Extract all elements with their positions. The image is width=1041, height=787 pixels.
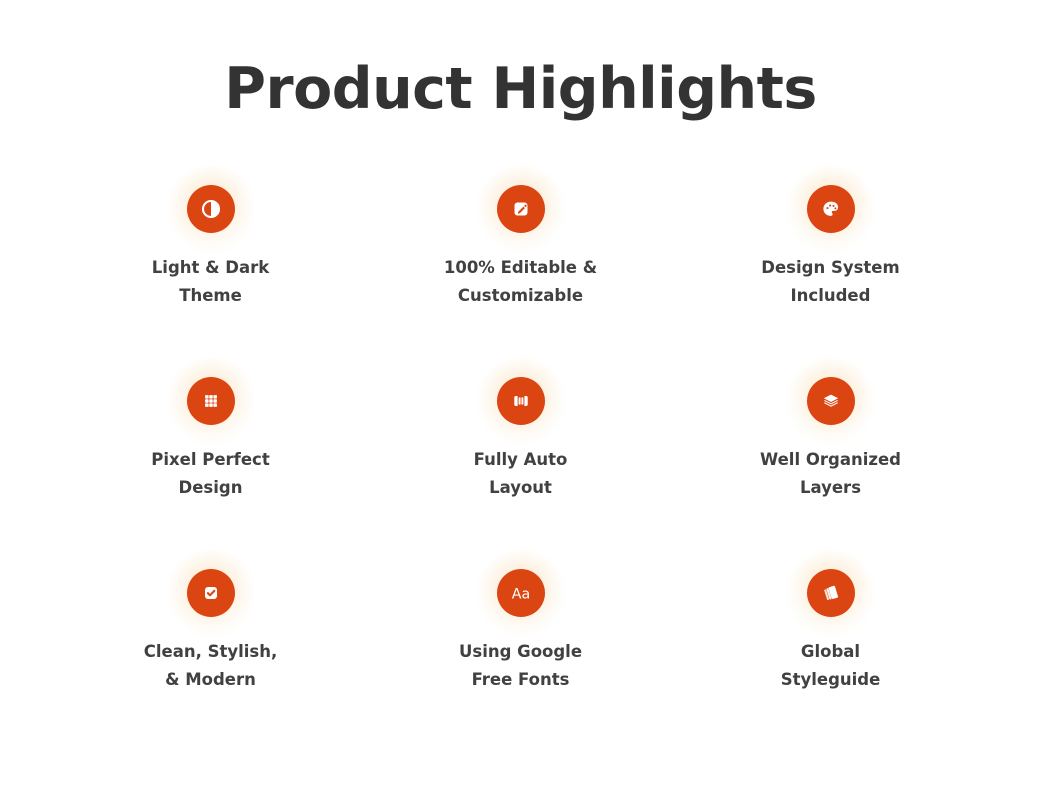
feature-item: Pixel Perfect Design (66, 377, 356, 569)
feature-item: Well Organized Layers (686, 377, 976, 569)
product-highlights-page: Product Highlights Light & Dark Theme (0, 0, 1041, 787)
icon-circle (807, 569, 855, 617)
feature-label: Global Styleguide (781, 638, 881, 695)
stacked-layers-icon (819, 389, 843, 413)
feature-icon-wrap (187, 377, 235, 425)
feature-icon-wrap (807, 185, 855, 233)
grid-nine-squares-icon (199, 389, 223, 413)
icon-circle (187, 569, 235, 617)
icon-circle (187, 377, 235, 425)
feature-label: 100% Editable & Customizable (444, 254, 597, 311)
feature-icon-wrap (187, 569, 235, 617)
feature-item: Light & Dark Theme (66, 185, 356, 377)
svg-text:Aa: Aa (511, 586, 529, 602)
feature-icon-wrap (807, 377, 855, 425)
feature-label: Light & Dark Theme (152, 254, 269, 311)
icon-circle (187, 185, 235, 233)
feature-item: Design System Included (686, 185, 976, 377)
icon-circle (807, 185, 855, 233)
feature-label: Well Organized Layers (760, 446, 901, 503)
stacked-cards-swatch-icon (819, 581, 843, 605)
feature-icon-wrap (497, 377, 545, 425)
feature-label: Design System Included (761, 254, 899, 311)
contrast-half-circle-icon (199, 197, 223, 221)
icon-circle (497, 377, 545, 425)
feature-item: Aa Using Google Free Fonts (376, 569, 666, 761)
icon-circle (807, 377, 855, 425)
feature-icon-wrap: Aa (497, 569, 545, 617)
feature-label: Fully Auto Layout (474, 446, 568, 503)
icon-circle (497, 185, 545, 233)
feature-grid: Light & Dark Theme 100% Editable & Custo… (56, 121, 986, 761)
page-title: Product Highlights (0, 0, 1041, 121)
feature-label: Using Google Free Fonts (459, 638, 582, 695)
pencil-edit-document-icon (509, 197, 533, 221)
feature-icon-wrap (807, 569, 855, 617)
auto-layout-vertical-resize-icon (509, 389, 533, 413)
checkmark-square-icon (199, 581, 223, 605)
icon-circle: Aa (497, 569, 545, 617)
color-palette-icon (819, 197, 843, 221)
feature-label: Pixel Perfect Design (151, 446, 269, 503)
feature-item: Global Styleguide (686, 569, 976, 761)
feature-icon-wrap (187, 185, 235, 233)
feature-icon-wrap (497, 185, 545, 233)
feature-label: Clean, Stylish, & Modern (144, 638, 278, 695)
feature-item: Clean, Stylish, & Modern (66, 569, 356, 761)
feature-item: 100% Editable & Customizable (376, 185, 666, 377)
feature-item: Fully Auto Layout (376, 377, 666, 569)
typography-aa-icon: Aa (508, 581, 534, 605)
